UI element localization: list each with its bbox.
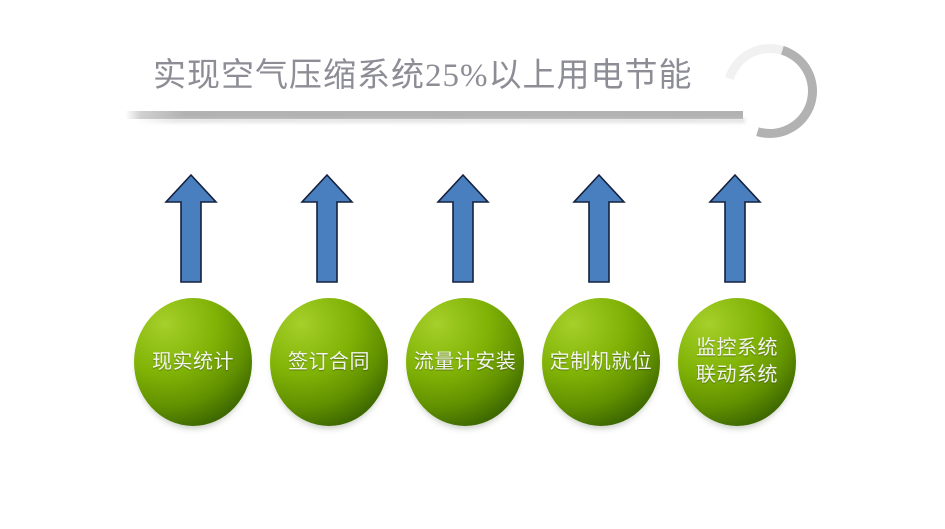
process-node[interactable]: 监控系统 联动系统 (678, 298, 796, 426)
process-node-label: 流量计安装 (410, 349, 521, 376)
process-node-label: 定制机就位 (546, 349, 657, 376)
title-banner: 实现空气压缩系统25%以上用电节能 (125, 38, 785, 143)
process-node-label: 签订合同 (284, 349, 374, 376)
process-node[interactable]: 签订合同 (270, 298, 388, 426)
arrow-up-icon (435, 172, 491, 285)
process-node-label: 现实统计 (148, 349, 238, 376)
slide-canvas: 实现空气压缩系统25%以上用电节能 (0, 0, 945, 529)
process-node[interactable]: 现实统计 (134, 298, 252, 426)
arrow-up-icon (707, 172, 763, 285)
process-node[interactable]: 定制机就位 (542, 298, 660, 426)
arrow-up-icon (571, 172, 627, 285)
process-node[interactable]: 流量计安装 (406, 298, 524, 426)
process-node-label: 监控系统 联动系统 (692, 335, 782, 389)
arrow-up-icon (163, 172, 219, 285)
banner-underline-shadow (135, 118, 745, 123)
arrow-up-icon (299, 172, 355, 285)
page-title: 实现空气压缩系统25%以上用电节能 (153, 54, 753, 98)
banner-crescent-bracket (706, 27, 833, 154)
